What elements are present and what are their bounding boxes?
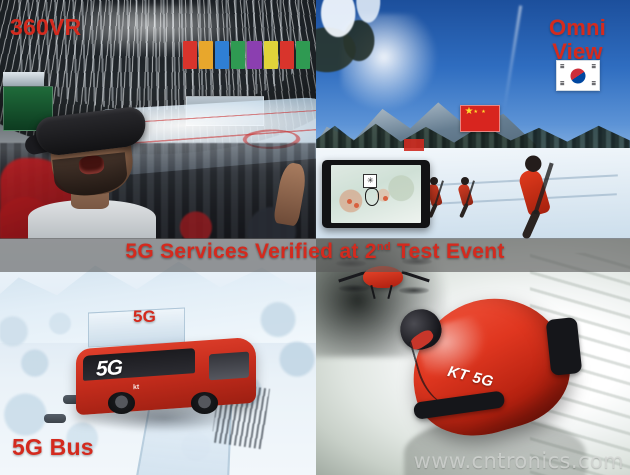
drone-rotor — [399, 287, 429, 294]
tablet-device[interactable]: ✳ — [322, 160, 430, 228]
vr-spectator — [19, 91, 164, 239]
label-omni-line1: Omni — [549, 15, 606, 40]
bus-windshield — [209, 352, 249, 381]
course-marker-flag — [404, 139, 424, 151]
arena-flag-banners — [183, 41, 309, 70]
5g-bus-vehicle: 5G kt — [76, 343, 256, 409]
label-360vr: 360VR — [10, 14, 81, 41]
snowy-tree — [316, 0, 404, 105]
label-5g-bus: 5G Bus — [12, 434, 94, 461]
map-cursor-icon — [365, 188, 379, 206]
site-watermark: www.cntronics.com — [414, 449, 624, 473]
panel-5g-bus: 5G kt 5G 5G Bus — [0, 239, 316, 475]
vr-spectator-mouth — [78, 155, 104, 175]
map-marker-icon[interactable]: ✳ — [363, 174, 377, 188]
collage-title-main: 5G Services Verified at 2 — [125, 240, 376, 263]
collage-title-ordinal: nd — [377, 241, 391, 253]
skier-lead — [523, 170, 546, 215]
bus-wheel — [191, 392, 218, 413]
vr-headset-icon — [34, 105, 148, 157]
collage-title: 5G Services Verified at 2nd Test Event — [0, 240, 630, 264]
bus-brand-text: kt — [133, 384, 139, 391]
bobsled-runner — [546, 317, 583, 375]
drone-rotor — [339, 285, 369, 292]
china-flag — [460, 105, 500, 132]
panel-360vr: 360VR — [0, 0, 316, 239]
arena-advert-top — [3, 72, 44, 86]
bus-wheel — [108, 392, 135, 413]
tablet-screen[interactable]: ✳ — [331, 165, 421, 223]
taeguk-symbol — [568, 65, 589, 86]
panel-sync-view: KT 5G Sync View — [316, 239, 630, 475]
label-omni-view: Omni View — [549, 16, 606, 64]
bus-livery-text: 5G — [96, 356, 122, 382]
photo-collage: 360VR ✳ — [0, 0, 630, 475]
skier — [429, 184, 440, 206]
skier — [460, 184, 471, 206]
collage-title-tail: Test Event — [391, 240, 505, 263]
panel-omni-view: ✳ Omni View ☰ ☰ ☰ ☰ — [316, 0, 630, 239]
badge-5g: 5G — [133, 307, 156, 327]
south-korea-flag: ☰ ☰ ☰ ☰ — [556, 60, 600, 91]
